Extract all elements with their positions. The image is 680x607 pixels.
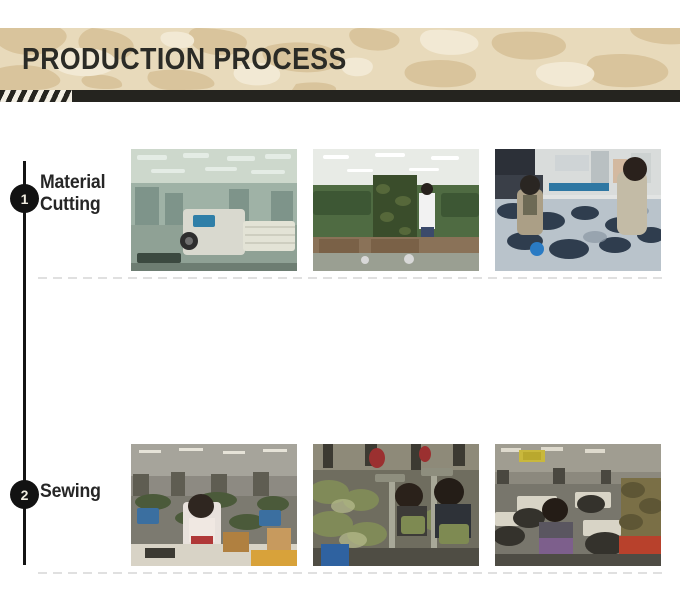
thumbnail-sewing-tactical-gear[interactable] [313,444,479,566]
sewing-gear-photo [313,444,479,566]
header-banner: PRODUCTION PROCESS [0,28,680,90]
thumbnail-camouflage-fabric-inspection[interactable] [313,149,479,271]
page-title: PRODUCTION PROCESS [22,28,347,90]
sewing-workshop-photo [495,444,661,566]
step-badge-2: 2 [10,480,39,509]
thumbnail-weaving-loom[interactable] [131,149,297,271]
diagonal-stripes-icon [0,90,72,102]
thumbnail-sewing-workshop[interactable] [495,444,661,566]
fabric-inspection-photo [313,149,479,271]
row-separator [38,277,668,279]
header-accent-bar [0,90,680,102]
process-step-row: 2 Sewing [0,437,680,582]
thumbnail-sewing-floor[interactable] [131,444,297,566]
step-thumbnails-1 [131,149,680,277]
process-steps-list: 1 Material Cutting [0,140,680,575]
fabric-cutting-photo [495,149,661,271]
production-process-page: PRODUCTION PROCESS 1 Material Cutting [0,0,680,607]
process-step-row: 1 Material Cutting [0,140,680,285]
step-label-1: Material Cutting [40,172,120,215]
row-separator [38,572,668,574]
weaving-loom-photo [131,149,297,271]
sewing-floor-photo [131,444,297,566]
thumbnail-fabric-cutting[interactable] [495,149,661,271]
step-thumbnails-2 [131,444,680,572]
step-badge-1: 1 [10,184,39,213]
step-label-2: Sewing [40,481,120,503]
